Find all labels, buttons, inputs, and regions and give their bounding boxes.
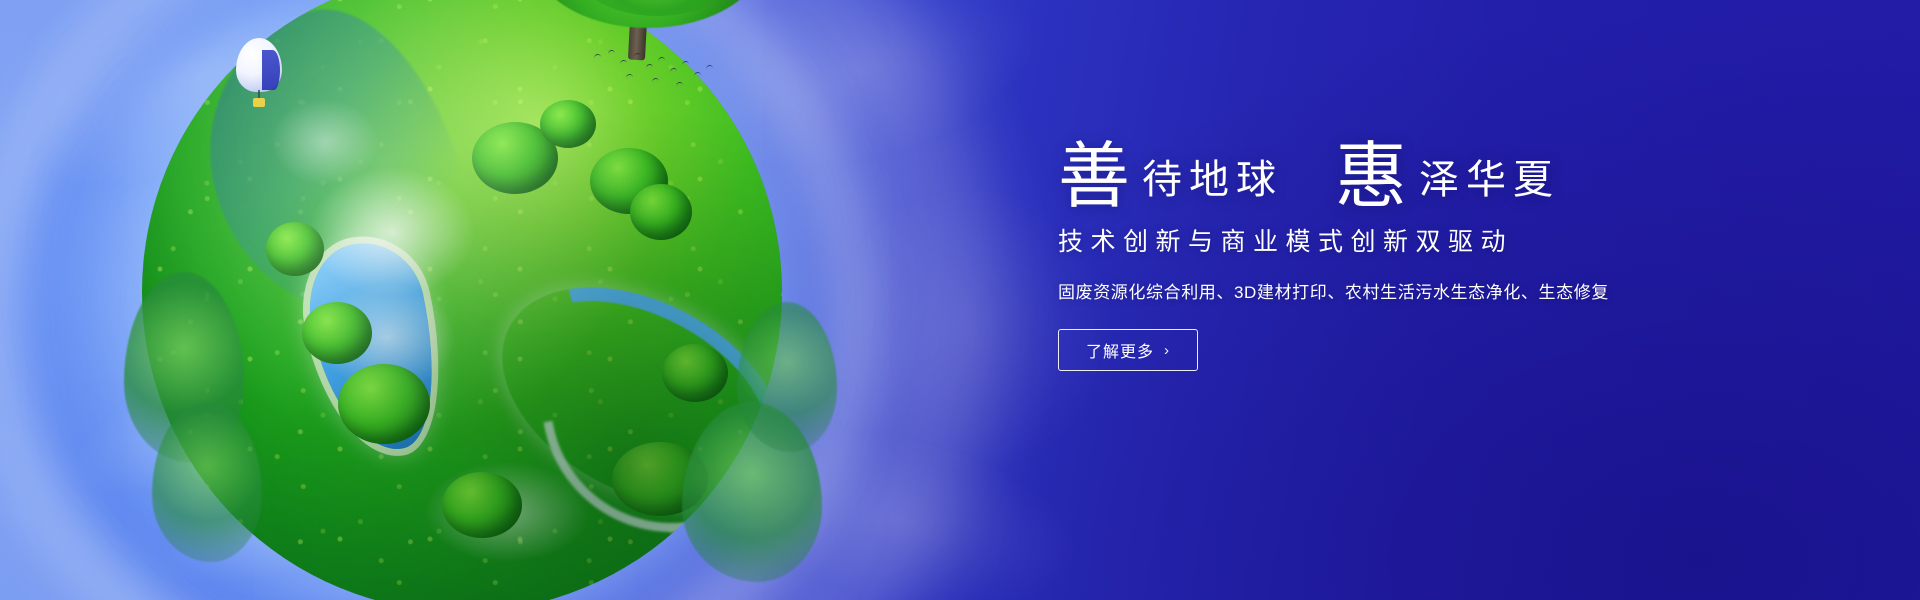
headline-lead-char-2: 惠 bbox=[1335, 140, 1407, 212]
bird-icon bbox=[594, 54, 601, 59]
bird-icon bbox=[620, 60, 627, 65]
hero-content: 善 待地球 惠 泽华夏 技术创新与商业模式创新双驱动 固废资源化综合利用、3D建… bbox=[1058, 136, 1758, 371]
hero-subtitle: 技术创新与商业模式创新双驱动 bbox=[1058, 222, 1758, 258]
chevron-right-icon: › bbox=[1164, 343, 1170, 358]
headline-rest-2: 泽华夏 bbox=[1407, 160, 1560, 200]
bird-flock-icon bbox=[590, 48, 720, 90]
bird-icon bbox=[694, 72, 701, 77]
bird-icon bbox=[706, 65, 713, 70]
tree-blob bbox=[472, 122, 558, 194]
headline-rest-1: 待地球 bbox=[1130, 160, 1283, 200]
tree-blob bbox=[266, 222, 324, 276]
tree-blob bbox=[338, 364, 430, 444]
tree-blob bbox=[442, 472, 522, 538]
lake-shape bbox=[296, 232, 453, 462]
mist-patch bbox=[292, 262, 482, 412]
tree-blob bbox=[630, 184, 692, 240]
bird-icon bbox=[670, 68, 677, 73]
bird-icon bbox=[658, 57, 665, 62]
learn-more-button[interactable]: 了解更多 › bbox=[1058, 329, 1198, 371]
learn-more-label: 了解更多 bbox=[1086, 338, 1154, 362]
balloon-basket bbox=[253, 98, 265, 107]
tree-blob bbox=[662, 344, 728, 402]
mist-patch bbox=[277, 142, 507, 322]
bird-icon bbox=[626, 74, 633, 79]
balloon-stripe bbox=[262, 50, 280, 90]
hero-headline: 善 待地球 惠 泽华夏 bbox=[1058, 136, 1758, 208]
mountain-ridge bbox=[172, 0, 493, 342]
headline-lead-char-1: 善 bbox=[1058, 140, 1130, 212]
bird-icon bbox=[682, 61, 689, 66]
tree-blob bbox=[540, 100, 596, 148]
mist-patch bbox=[392, 442, 622, 582]
bird-icon bbox=[652, 78, 659, 83]
bird-icon bbox=[608, 50, 615, 55]
bird-icon bbox=[646, 64, 653, 69]
bird-icon bbox=[676, 82, 683, 87]
tree-blob bbox=[590, 148, 668, 214]
hot-air-balloon-icon bbox=[236, 38, 282, 110]
tree-blob bbox=[302, 302, 372, 364]
hero-banner: 善 待地球 惠 泽华夏 技术创新与商业模式创新双驱动 固废资源化综合利用、3D建… bbox=[0, 0, 1920, 600]
hero-description: 固废资源化综合利用、3D建材打印、农村生活污水生态净化、生态修复 bbox=[1058, 278, 1758, 303]
bird-icon bbox=[634, 53, 641, 58]
